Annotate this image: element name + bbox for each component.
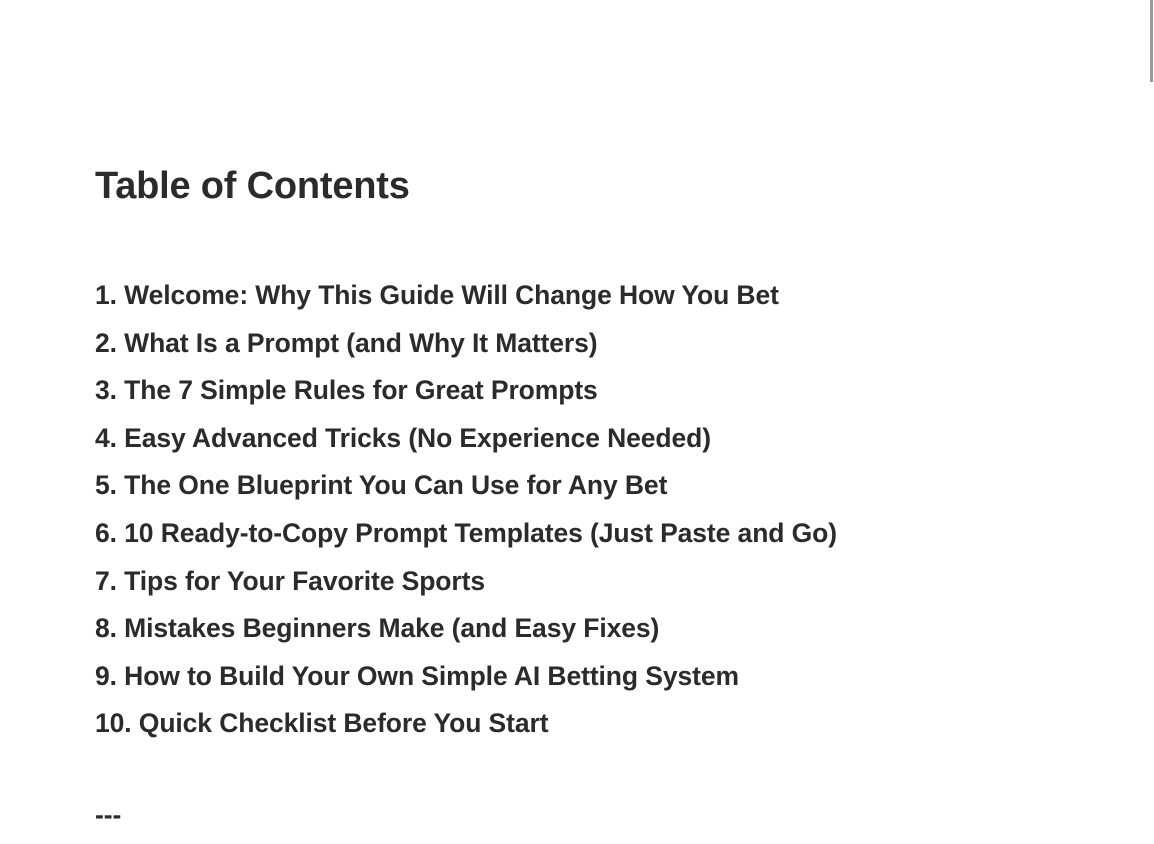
toc-entry-5[interactable]: 5. The One Blueprint You Can Use for Any… (95, 462, 837, 510)
page-title: Table of Contents (95, 167, 410, 205)
vertical-scrollbar[interactable] (1148, 0, 1154, 844)
toc-entry-9[interactable]: 9. How to Build Your Own Simple AI Betti… (95, 653, 837, 701)
table-of-contents-list: 1. Welcome: Why This Guide Will Change H… (95, 272, 837, 748)
toc-entry-2[interactable]: 2. What Is a Prompt (and Why It Matters) (95, 320, 837, 368)
section-divider: --- (95, 800, 121, 830)
toc-entry-6[interactable]: 6. 10 Ready-to-Copy Prompt Templates (Ju… (95, 510, 837, 558)
scrollbar-thumb[interactable] (1150, 0, 1153, 82)
toc-entry-8[interactable]: 8. Mistakes Beginners Make (and Easy Fix… (95, 605, 837, 653)
toc-entry-3[interactable]: 3. The 7 Simple Rules for Great Prompts (95, 367, 837, 415)
toc-entry-7[interactable]: 7. Tips for Your Favorite Sports (95, 558, 837, 606)
toc-entry-1[interactable]: 1. Welcome: Why This Guide Will Change H… (95, 272, 837, 320)
toc-entry-10[interactable]: 10. Quick Checklist Before You Start (95, 700, 837, 748)
toc-entry-4[interactable]: 4. Easy Advanced Tricks (No Experience N… (95, 415, 837, 463)
document-page: Table of Contents 1. Welcome: Why This G… (0, 0, 1154, 844)
